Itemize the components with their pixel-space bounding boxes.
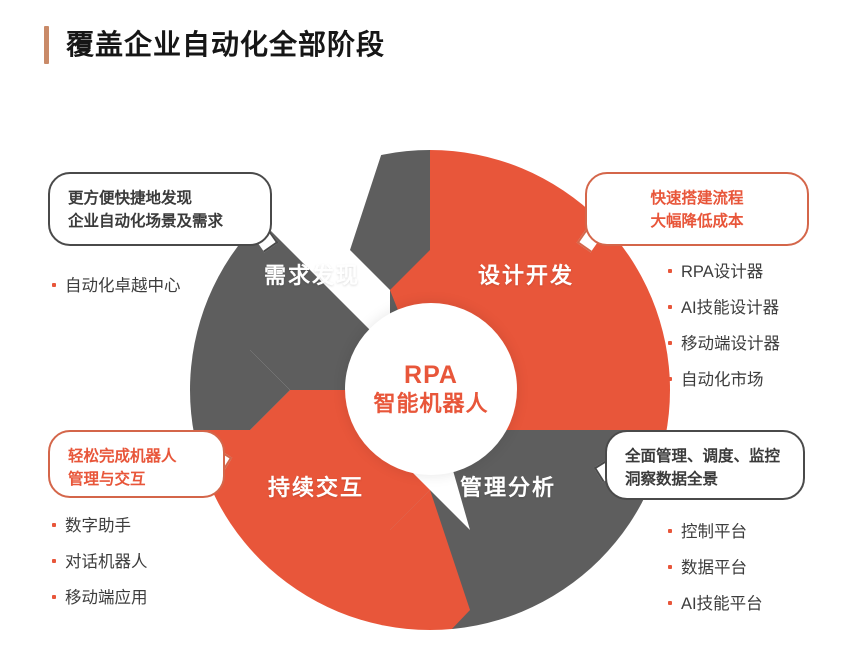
bullet-dot-icon [668, 341, 672, 345]
bullet-dot-icon [52, 595, 56, 599]
wheel-label-management-analysis: 管理分析 [460, 470, 556, 502]
bullet-item-label: 对话机器人 [65, 548, 148, 572]
bullet-dot-icon [668, 305, 672, 309]
bullet-item-label: 控制平台 [681, 518, 747, 542]
bullet-item-label: 移动端应用 [65, 584, 148, 608]
callout-top-right-line2: 大幅降低成本 [605, 210, 789, 233]
page-title: 覆盖企业自动化全部阶段 [66, 31, 385, 59]
wheel-label-demand-discovery: 需求发现 [264, 258, 360, 290]
hub-title: RPA [404, 363, 458, 388]
callout-bottom-left-line2: 管理与交互 [68, 468, 205, 491]
bullet-item: 数字助手 [52, 512, 148, 536]
bullet-item: 自动化卓越中心 [52, 272, 181, 296]
bullet-item-label: 移动端设计器 [681, 330, 780, 354]
callout-top-left-line2: 企业自动化场景及需求 [68, 210, 252, 233]
bullet-item-label: AI技能设计器 [681, 294, 779, 318]
callout-bottom-right-line2: 洞察数据全景 [625, 468, 785, 491]
bullet-dot-icon [668, 377, 672, 381]
bullet-item: 控制平台 [668, 518, 763, 542]
bullet-item: 移动端设计器 [668, 330, 780, 354]
callout-top-left: 更方便快捷地发现 企业自动化场景及需求 [48, 172, 272, 246]
wheel-label-design-development: 设计开发 [478, 258, 574, 290]
hub-subtitle: 智能机器人 [373, 393, 488, 415]
bullet-item-label: RPA设计器 [681, 258, 763, 282]
header-accent-bar [44, 26, 49, 64]
bullet-dot-icon [668, 565, 672, 569]
bullet-dot-icon [52, 559, 56, 563]
bullet-item-label: 数字助手 [65, 512, 131, 536]
bullet-dot-icon [52, 523, 56, 527]
bullet-list-top-left: 自动化卓越中心 [52, 272, 181, 296]
bullet-item-label: 自动化市场 [681, 366, 764, 390]
bullet-item: RPA设计器 [668, 258, 780, 282]
bullet-dot-icon [52, 283, 56, 287]
bullet-list-bottom-right: 控制平台数据平台AI技能平台 [668, 518, 763, 614]
bullet-list-top-right: RPA设计器AI技能设计器移动端设计器自动化市场 [668, 258, 780, 390]
callout-bottom-left-line1: 轻松完成机器人 [68, 445, 205, 468]
bullet-item: 自动化市场 [668, 366, 780, 390]
bullet-item: AI技能设计器 [668, 294, 780, 318]
wheel-hub: RPA 智能机器人 [345, 303, 517, 475]
bullet-item: 移动端应用 [52, 584, 148, 608]
bullet-dot-icon [668, 601, 672, 605]
bullet-item: AI技能平台 [668, 590, 763, 614]
bullet-item-label: AI技能平台 [681, 590, 763, 614]
page-header: 覆盖企业自动化全部阶段 [44, 26, 385, 64]
callout-bottom-right-line1: 全面管理、调度、监控 [625, 445, 785, 468]
bullet-item: 对话机器人 [52, 548, 148, 572]
callout-top-left-line1: 更方便快捷地发现 [68, 187, 252, 210]
bullet-dot-icon [668, 269, 672, 273]
wheel-label-continuous-interaction: 持续交互 [268, 470, 364, 502]
bullet-item: 数据平台 [668, 554, 763, 578]
callout-bottom-left: 轻松完成机器人 管理与交互 [48, 430, 225, 498]
bullet-dot-icon [668, 529, 672, 533]
bullet-item-label: 数据平台 [681, 554, 747, 578]
callout-top-right-line1: 快速搭建流程 [605, 187, 789, 210]
callout-bottom-right: 全面管理、调度、监控 洞察数据全景 [605, 430, 805, 500]
bullet-list-bottom-left: 数字助手对话机器人移动端应用 [52, 512, 148, 608]
callout-top-right: 快速搭建流程 大幅降低成本 [585, 172, 809, 246]
bullet-item-label: 自动化卓越中心 [65, 272, 181, 296]
